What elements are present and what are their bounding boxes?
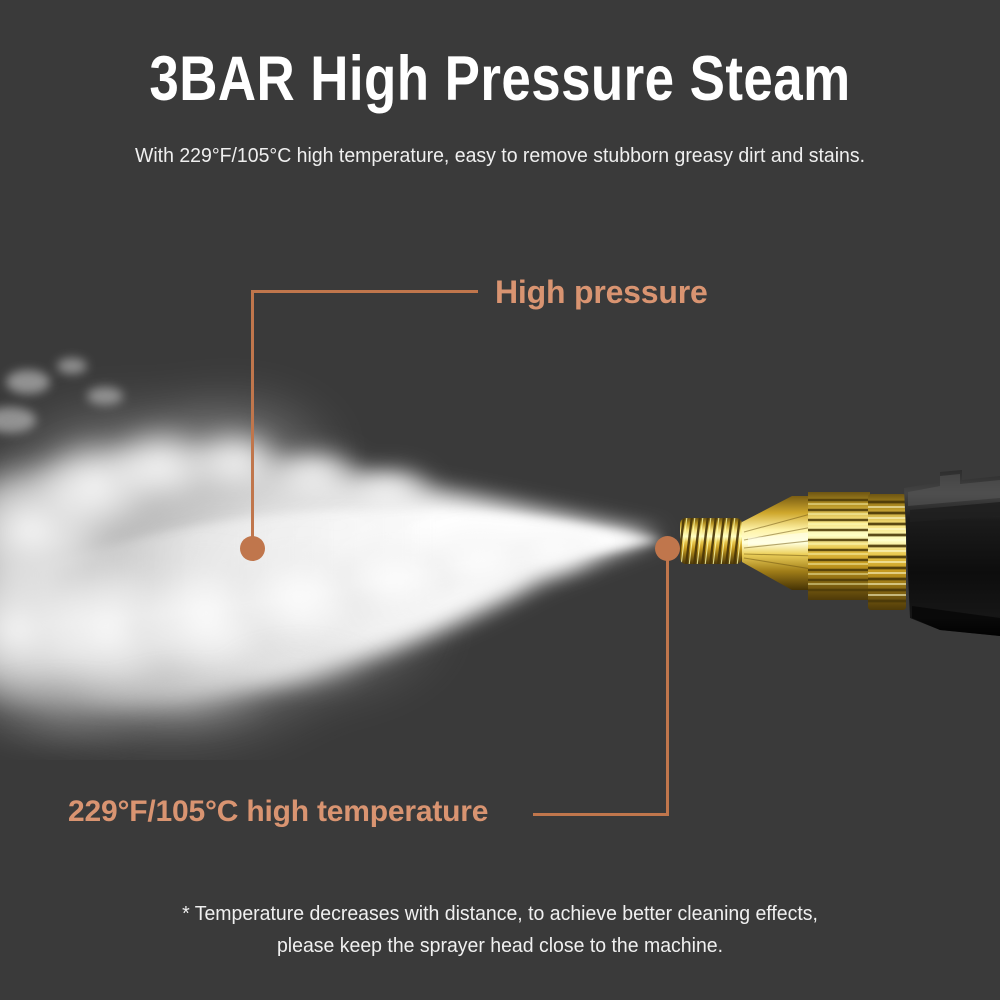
steam-plume-illustration [0, 300, 700, 760]
product-infographic: 3BAR High Pressure Steam With 229°F/105°… [0, 0, 1000, 1000]
callout-high-pressure: High pressure [495, 274, 708, 311]
callout-high-temperature: 229°F/105°C high temperature [68, 795, 488, 829]
pressure-leader-horizontal [251, 290, 478, 293]
pressure-marker-dot [240, 536, 265, 561]
nozzle-collar [866, 494, 910, 610]
sprayer-body [904, 470, 1000, 636]
nozzle-cone [742, 496, 818, 590]
temperature-leader-vertical [666, 548, 669, 816]
nozzle-thread [678, 516, 748, 566]
footnote-line-2: please keep the sprayer head close to th… [25, 930, 975, 962]
page-subtitle: With 229°F/105°C high temperature, easy … [25, 142, 975, 170]
pressure-leader-vertical [251, 290, 254, 548]
nozzle-barrel [806, 492, 872, 600]
sprayer-nozzle-illustration [640, 440, 1000, 660]
page-title: 3BAR High Pressure Steam [80, 46, 920, 112]
footnote-line-1: * Temperature decreases with distance, t… [25, 898, 975, 930]
footnote: * Temperature decreases with distance, t… [25, 898, 975, 962]
temperature-marker-dot [655, 536, 680, 561]
temperature-leader-horizontal [533, 813, 669, 816]
